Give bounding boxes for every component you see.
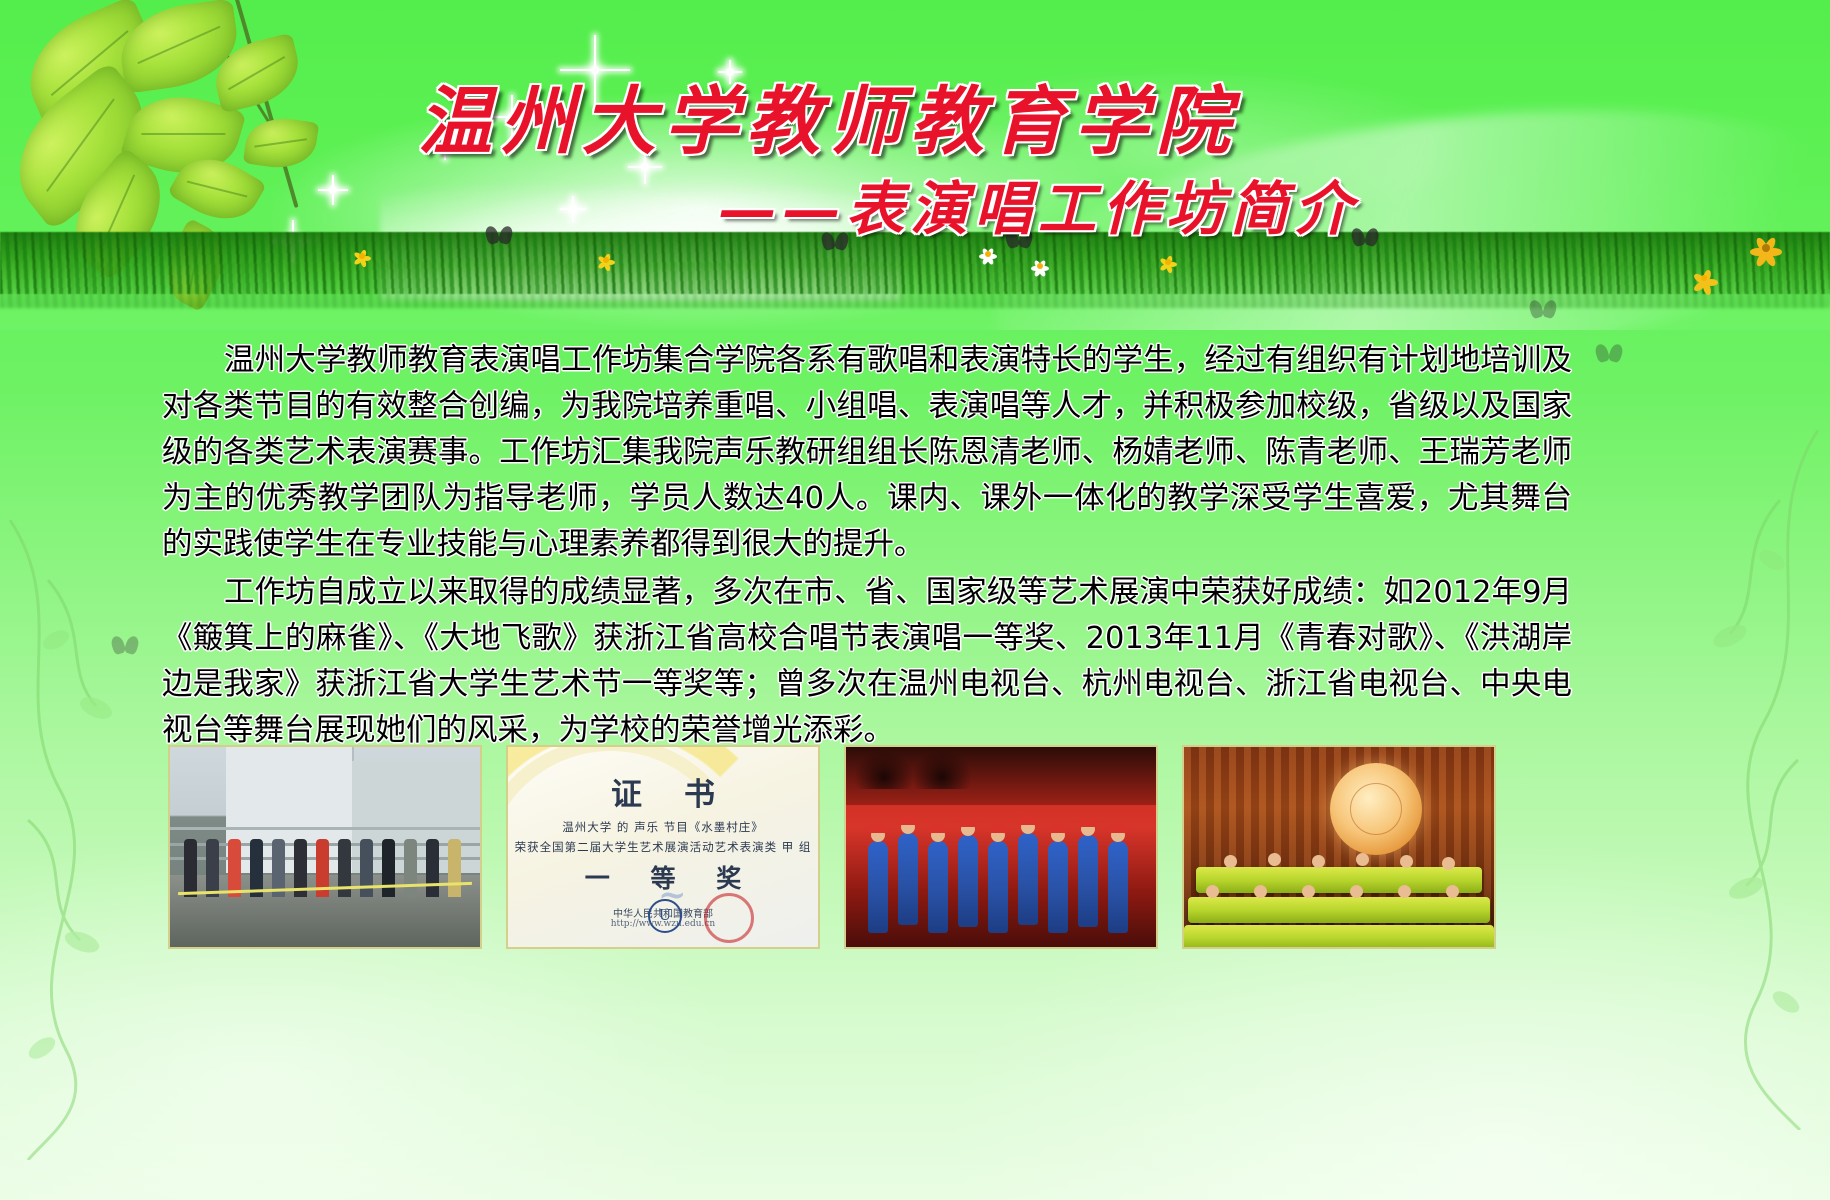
person-shape: [382, 839, 395, 897]
body-text: 温州大学教师教育表演唱工作坊集合学院各系有歌唱和表演特长的学生，经过有组织有计划…: [162, 338, 1572, 756]
paragraph-achievements: 工作坊自成立以来取得的成绩显著，多次在市、省、国家级等艺术展演中荣获好成绩：如2…: [162, 570, 1572, 754]
certificate-title: 证书: [508, 769, 818, 814]
performer-row: [1184, 925, 1494, 949]
performer-head: [1302, 885, 1315, 898]
flower-icon: [1030, 256, 1050, 276]
flower-icon: [1158, 252, 1178, 272]
certificate-line1: 温州大学 的 声乐 节目《水墨村庄》: [508, 819, 818, 835]
dancer-shape: [928, 841, 948, 933]
performer-head: [1224, 855, 1237, 868]
person-shape: [404, 839, 417, 897]
flower-icon: [1748, 230, 1784, 266]
flower-icon: [1690, 264, 1720, 294]
page-title: 温州大学教师教育学院: [418, 62, 1238, 169]
butterfly-icon: [486, 226, 512, 246]
red-seal-icon: [704, 893, 754, 943]
paragraph-intro: 温州大学教师教育表演唱工作坊集合学院各系有歌唱和表演特长的学生，经过有组织有计划…: [162, 338, 1572, 568]
vine-decoration-left: [0, 520, 150, 1160]
dancer-shape: [898, 833, 918, 925]
performer-row: [1196, 867, 1482, 893]
performer-head: [1268, 853, 1281, 866]
yellow-skirt-stage-photo[interactable]: [1182, 745, 1496, 949]
performer-head: [1442, 857, 1455, 870]
poster-canvas: 温州大学教师教育学院 ——表演唱工作坊简介 温州大学教师教育表演唱工作坊集合学院…: [0, 0, 1830, 1200]
performer-head: [1206, 885, 1219, 898]
person-shape: [206, 839, 219, 897]
dancer-shape: [868, 841, 888, 933]
leaf-icon: [243, 113, 319, 172]
person-shape: [426, 839, 439, 897]
dancer-shape: [1048, 841, 1068, 933]
building-shape: [226, 747, 354, 873]
dancer-shape: [1108, 841, 1128, 933]
photo-gallery: 证书 温州大学 的 声乐 节目《水墨村庄》 荣获全国第二届大学生艺术展演活动艺术…: [168, 745, 1673, 945]
butterfly-icon: [1596, 344, 1622, 364]
person-shape: [184, 839, 197, 897]
tree-silhouette: [854, 749, 914, 789]
dancer-shape: [1078, 835, 1098, 927]
dancer-shape: [1018, 833, 1038, 925]
university-logo-icon: U: [648, 899, 682, 933]
performer-head: [1400, 855, 1413, 868]
flower-icon: [978, 244, 998, 264]
performer-head: [1254, 885, 1267, 898]
butterfly-icon: [1530, 300, 1556, 320]
page-subtitle: ——表演唱工作坊简介: [718, 162, 1358, 246]
certificate-line2: 荣获全国第二届大学生艺术展演活动艺术表演类 甲 组: [508, 839, 818, 855]
dancer-shape: [958, 835, 978, 927]
person-shape: [448, 839, 461, 897]
tree-silhouette: [912, 749, 972, 789]
performer-head: [1398, 885, 1411, 898]
performer-head: [1350, 885, 1363, 898]
performer-head: [1356, 853, 1369, 866]
flower-icon: [596, 250, 616, 270]
rooftop-group-photo[interactable]: [168, 745, 482, 949]
person-shape: [228, 839, 241, 897]
performer-head: [1446, 885, 1459, 898]
performer-row: [1188, 897, 1490, 923]
red-stage-dance-photo[interactable]: [844, 745, 1158, 949]
stage-emblem-icon: [1330, 763, 1422, 855]
vine-decoration-right: [1660, 430, 1830, 1130]
dancer-shape: [988, 841, 1008, 933]
certificate-photo[interactable]: 证书 温州大学 的 声乐 节目《水墨村庄》 荣获全国第二届大学生艺术展演活动艺术…: [506, 745, 820, 949]
performer-head: [1312, 855, 1325, 868]
flower-icon: [352, 246, 372, 266]
